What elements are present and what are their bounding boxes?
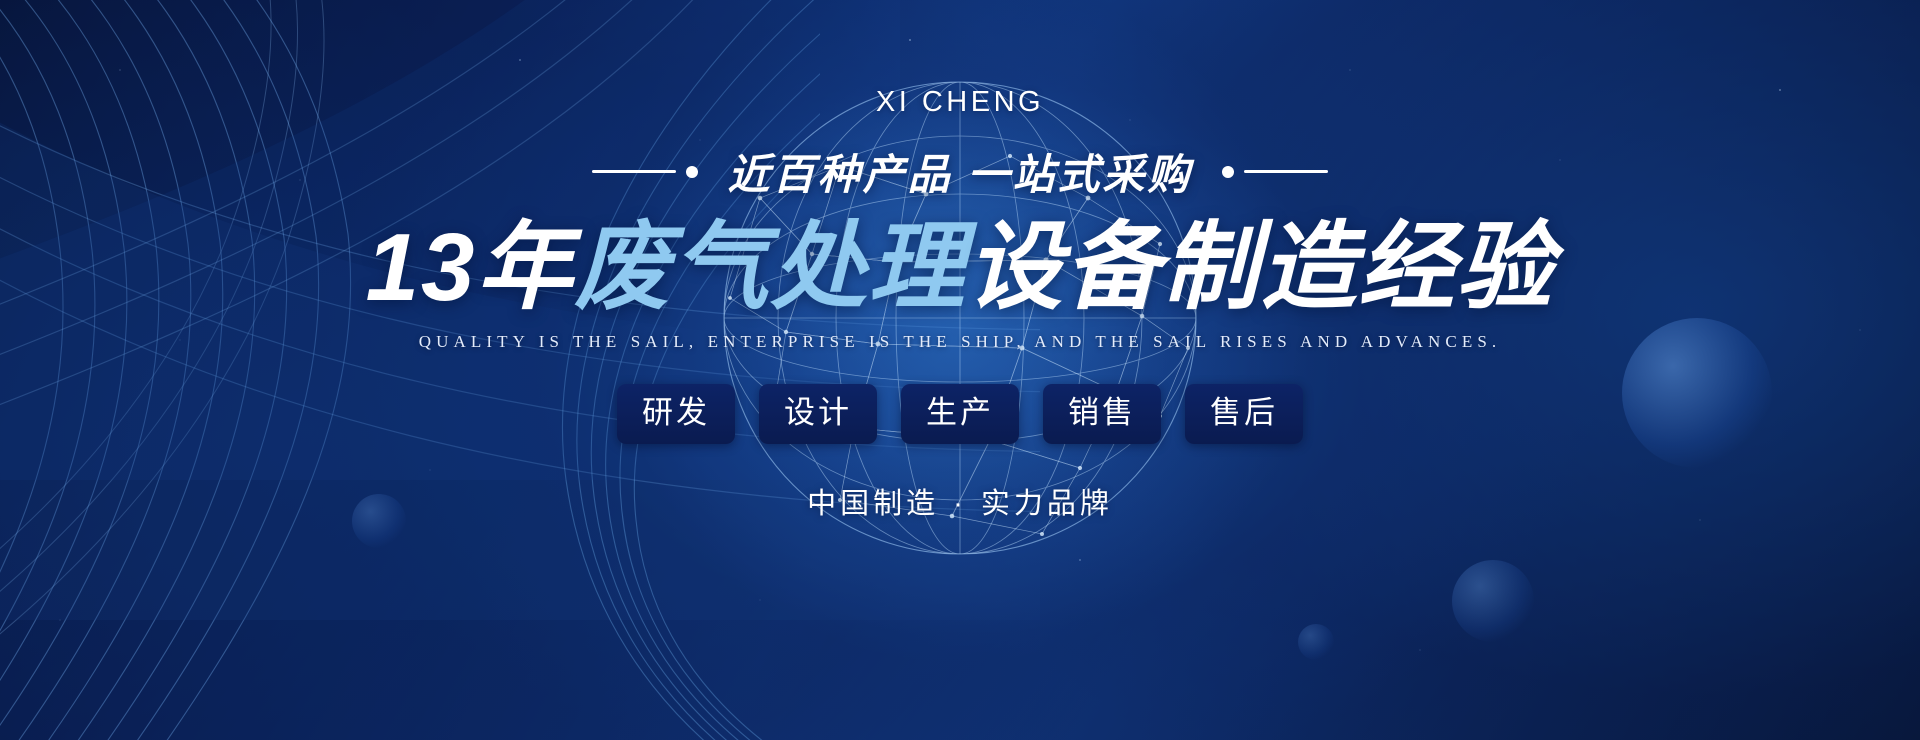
banner-content: XI CHENG 近百种产品 一站式采购 13年废气处理设备制造经验 QUALI… xyxy=(0,0,1920,740)
page-title: 13年废气处理设备制造经验 xyxy=(366,216,1555,320)
footer-slogan-left: 中国制造 xyxy=(807,488,939,520)
right-rule-decoration xyxy=(1222,166,1328,178)
headline-part-two: 设备制造经验 xyxy=(966,214,1554,321)
service-badge-rd[interactable]: 研发 xyxy=(617,384,735,445)
headline-part-one: 13年 xyxy=(366,214,575,321)
service-badge-production[interactable]: 生产 xyxy=(901,384,1019,445)
hero-banner: XI CHENG 近百种产品 一站式采购 13年废气处理设备制造经验 QUALI… xyxy=(0,0,1920,740)
service-badge-aftersales[interactable]: 售后 xyxy=(1185,384,1303,445)
rule-dot xyxy=(1222,166,1234,178)
brand-name-english: XI CHENG xyxy=(876,86,1044,119)
service-badge-design[interactable]: 设计 xyxy=(759,384,877,445)
service-badge-list: 研发 设计 生产 销售 售后 xyxy=(617,384,1303,445)
subtitle-row: 近百种产品 一站式采购 xyxy=(592,141,1329,202)
headline-accent: 废气处理 xyxy=(574,214,966,321)
english-tagline: QUALITY IS THE SAIL, ENTERPRISE IS THE S… xyxy=(419,332,1502,352)
footer-slogan-right: 实力品牌 xyxy=(981,488,1113,520)
service-badge-sales[interactable]: 销售 xyxy=(1043,384,1161,445)
rule-bar xyxy=(592,170,676,173)
rule-dot xyxy=(686,166,698,178)
left-rule-decoration xyxy=(592,166,698,178)
subtitle-text: 近百种产品 一站式采购 xyxy=(728,141,1193,202)
footer-slogan: 中国制造·实力品牌 xyxy=(807,480,1113,522)
footer-separator: · xyxy=(939,488,981,520)
rule-bar xyxy=(1244,170,1328,173)
